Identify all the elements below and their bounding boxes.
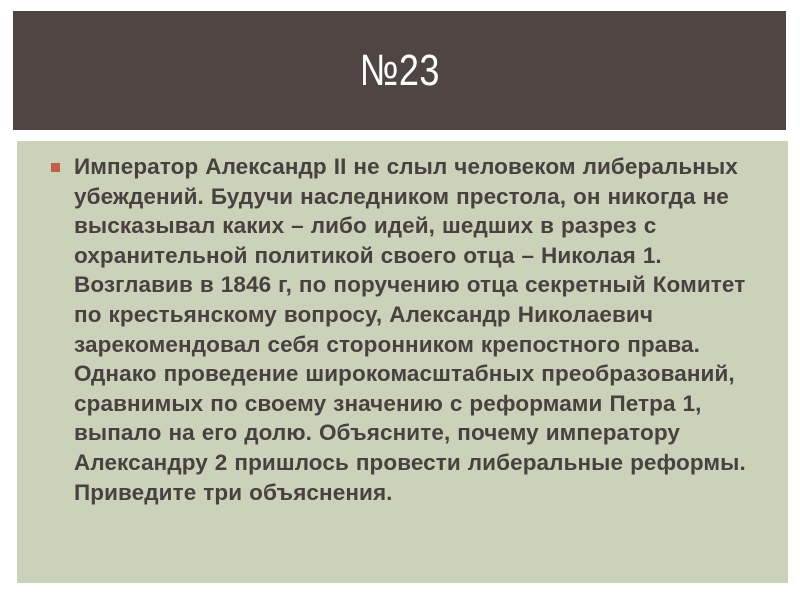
square-bullet-icon xyxy=(51,163,60,172)
slide-title-bar: №23 xyxy=(13,11,786,130)
list-item: Император Александр II не слыл человеком… xyxy=(51,152,770,507)
page-title: №23 xyxy=(359,49,439,93)
slide-content-panel: Император Александр II не слыл человеком… xyxy=(17,141,788,583)
bullet-list: Император Александр II не слыл человеком… xyxy=(17,141,788,507)
slide: №23 Император Александр II не слыл челов… xyxy=(0,0,800,600)
list-item-text: Император Александр II не слыл человеком… xyxy=(74,152,770,507)
